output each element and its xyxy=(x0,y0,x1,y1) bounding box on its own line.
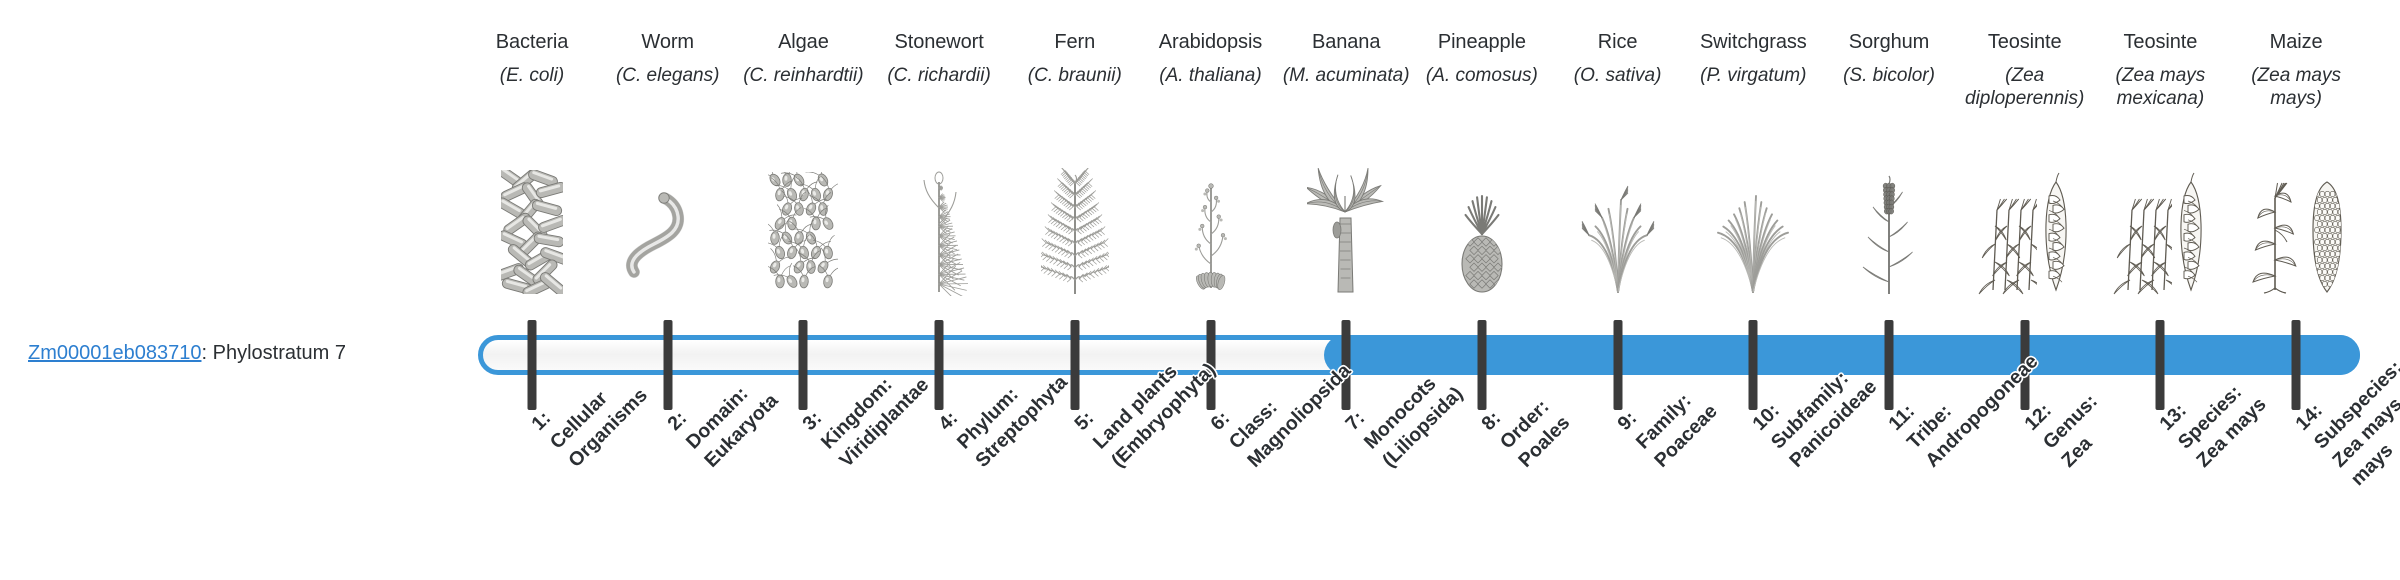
species-header-4: Stonewort(C. richardii) xyxy=(871,30,1007,87)
species-scientific-name: (C. reinhardtii) xyxy=(735,64,871,87)
species-header-9: Rice(O. sativa) xyxy=(1550,30,1686,87)
species-common-name: Teosinte xyxy=(2092,30,2228,54)
species-common-name: Sorghum xyxy=(1821,30,1957,54)
species-scientific-name: (Zea diploperennis) xyxy=(1957,64,2093,110)
organism-illustration-1 xyxy=(464,168,600,296)
species-header-row: Bacteria(E. coli)Worm(C. elegans)Algae(C… xyxy=(0,30,2400,170)
species-header-6: Arabidopsis(A. thaliana) xyxy=(1143,30,1279,87)
species-common-name: Rice xyxy=(1550,30,1686,54)
species-scientific-name: (A. comosus) xyxy=(1414,64,1550,87)
phylostratum-figure: Bacteria(E. coli)Worm(C. elegans)Algae(C… xyxy=(0,0,2400,580)
species-header-5: Fern(C. braunii) xyxy=(1007,30,1143,87)
species-header-2: Worm(C. elegans) xyxy=(600,30,736,87)
gene-id-link[interactable]: Zm00001eb083710 xyxy=(28,342,201,364)
species-header-3: Algae(C. reinhardtii) xyxy=(735,30,871,87)
species-scientific-name: (M. acuminata) xyxy=(1278,64,1414,87)
species-scientific-name: (C. braunii) xyxy=(1007,64,1143,87)
species-common-name: Switchgrass xyxy=(1685,30,1821,54)
species-scientific-name: (P. virgatum) xyxy=(1685,64,1821,87)
species-header-10: Switchgrass(P. virgatum) xyxy=(1685,30,1821,87)
species-common-name: Maize xyxy=(2228,30,2364,54)
species-common-name: Banana xyxy=(1278,30,1414,54)
species-scientific-name: (S. bicolor) xyxy=(1821,64,1957,87)
species-scientific-name: (O. sativa) xyxy=(1550,64,1686,87)
species-common-name: Algae xyxy=(735,30,871,54)
species-header-1: Bacteria(E. coli) xyxy=(464,30,600,87)
species-common-name: Fern xyxy=(1007,30,1143,54)
species-scientific-name: (A. thaliana) xyxy=(1143,64,1279,87)
species-common-name: Teosinte xyxy=(1957,30,2093,54)
species-scientific-name: (E. coli) xyxy=(464,64,600,87)
species-scientific-name: (Zea mays mexicana) xyxy=(2092,64,2228,110)
species-header-13: Teosinte(Zea mays mexicana) xyxy=(2092,30,2228,110)
species-scientific-name: (C. richardii) xyxy=(871,64,1007,87)
species-common-name: Stonewort xyxy=(871,30,1007,54)
species-header-7: Banana(M. acuminata) xyxy=(1278,30,1414,87)
species-header-8: Pineapple(A. comosus) xyxy=(1414,30,1550,87)
species-header-11: Sorghum(S. bicolor) xyxy=(1821,30,1957,87)
species-common-name: Arabidopsis xyxy=(1143,30,1279,54)
species-header-14: Maize(Zea mays mays) xyxy=(2228,30,2364,110)
species-header-12: Teosinte(Zea diploperennis) xyxy=(1957,30,2093,110)
gene-label-separator: : xyxy=(201,342,212,364)
gene-phylostratum-label: Zm00001eb083710: Phylostratum 7 xyxy=(28,342,346,365)
species-common-name: Pineapple xyxy=(1414,30,1550,54)
tick-mark-1 xyxy=(528,320,537,410)
species-common-name: Bacteria xyxy=(464,30,600,54)
species-scientific-name: (C. elegans) xyxy=(600,64,736,87)
species-scientific-name: (Zea mays mays) xyxy=(2228,64,2364,110)
phylostratum-value: Phylostratum 7 xyxy=(213,342,346,364)
species-common-name: Worm xyxy=(600,30,736,54)
bacteria-rods-icon xyxy=(499,168,565,296)
